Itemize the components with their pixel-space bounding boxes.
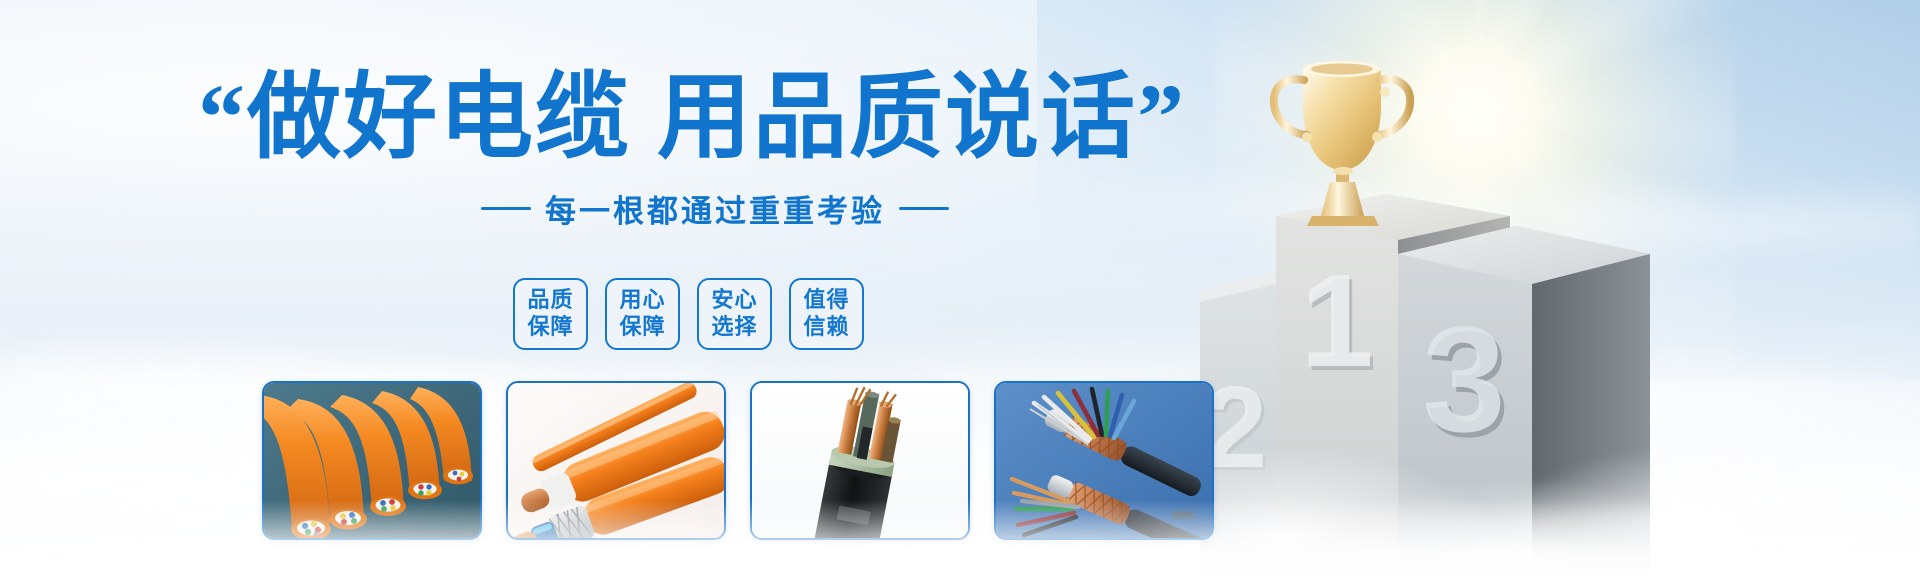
badge-line-1: 品质 — [527, 287, 573, 314]
headline-part-2: 用品质说话 — [657, 64, 1137, 169]
cloud-bottom-fade — [0, 500, 1920, 578]
badge-line-1: 安心 — [711, 287, 757, 314]
svg-text:3: 3 — [1422, 295, 1505, 463]
status-badge: 安心 选择 — [697, 278, 772, 350]
status-badge: 品质 保障 — [513, 278, 588, 350]
subtitle-rule-left — [481, 207, 531, 210]
subtitle-rule-right — [899, 207, 949, 210]
badge-line-1: 值得 — [803, 287, 849, 314]
page-title: “做好电缆用品质说话” — [198, 66, 1186, 170]
promo-banner: 2 2 1 1 3 3 — [0, 0, 1920, 578]
subtitle-row: 每一根都通过重重考验 — [420, 186, 1010, 231]
close-quote: ” — [1137, 66, 1186, 170]
subtitle-text: 每一根都通过重重考验 — [545, 186, 885, 231]
headline-part-1: 做好电缆 — [247, 64, 631, 169]
status-badge: 用心 保障 — [605, 278, 680, 350]
svg-text:1: 1 — [1300, 247, 1373, 394]
open-quote: “ — [198, 66, 247, 170]
feature-badge-group: 品质 保障 用心 保障 安心 选择 值得 信赖 — [513, 278, 864, 350]
badge-line-2: 保障 — [527, 314, 573, 341]
status-badge: 值得 信赖 — [789, 278, 864, 350]
badge-line-2: 选择 — [711, 314, 757, 341]
badge-line-1: 用心 — [619, 287, 665, 314]
badge-line-2: 保障 — [619, 314, 665, 341]
podium-with-trophy: 2 2 1 1 3 3 — [1180, 40, 1700, 578]
badge-line-2: 信赖 — [803, 314, 849, 341]
